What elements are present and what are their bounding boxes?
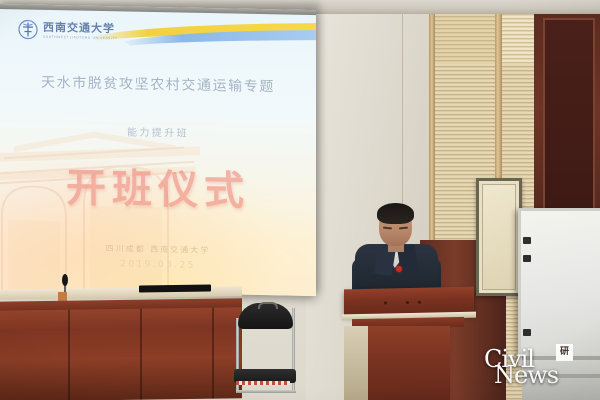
table-seam-2 bbox=[140, 309, 142, 400]
slatted-wall-upper bbox=[434, 10, 500, 70]
podium-mark-1 bbox=[384, 301, 387, 304]
podium-body bbox=[368, 326, 450, 400]
table-seam-3 bbox=[212, 308, 214, 399]
podium-mark-3 bbox=[418, 301, 421, 304]
whiteboard bbox=[518, 208, 600, 366]
whiteboard-stand-bar-2 bbox=[522, 374, 600, 378]
slide-title: 天水市脱贫攻坚农村交通运输专题 bbox=[0, 71, 316, 97]
chair-seat-trim bbox=[236, 381, 290, 385]
table-seam-1 bbox=[68, 310, 70, 400]
wall-framed-panel-inner bbox=[482, 184, 516, 290]
podium-mark-2 bbox=[406, 301, 409, 304]
table-nameplate bbox=[139, 284, 211, 292]
speaker-hair bbox=[377, 203, 414, 224]
whiteboard-clip-mid bbox=[523, 255, 531, 262]
whiteboard-stand bbox=[522, 352, 600, 400]
slide-logo-subtext: SOUTHWEST JIAOTONG UNIVERSITY bbox=[43, 34, 118, 39]
chair-rail-bottom bbox=[236, 390, 296, 393]
slide-logo-text: 西南交通大学 bbox=[43, 21, 118, 33]
slide-headline: 开班仪式 bbox=[0, 154, 316, 218]
presentation-slide: 西南交通大学 SOUTHWEST JIAOTONG UNIVERSITY 天水市… bbox=[0, 9, 316, 296]
whiteboard-stand-bar-1 bbox=[522, 356, 600, 360]
slide-university-logo: 西南交通大学 SOUTHWEST JIAOTONG UNIVERSITY bbox=[18, 19, 118, 41]
wall-framed-panel bbox=[476, 178, 522, 296]
university-emblem-icon bbox=[18, 19, 38, 39]
red-lapel-pin-icon bbox=[396, 266, 402, 272]
table-front bbox=[0, 307, 242, 400]
whiteboard-clip-top bbox=[523, 237, 531, 244]
whiteboard-clip-low bbox=[523, 329, 531, 336]
slide-swoosh-graphic bbox=[90, 17, 316, 57]
chair-handle bbox=[258, 302, 278, 309]
podium-side bbox=[344, 326, 370, 400]
projection-screen: 西南交通大学 SOUTHWEST JIAOTONG UNIVERSITY 天水市… bbox=[0, 4, 316, 296]
photo-scene: 西南交通大学 SOUTHWEST JIAOTONG UNIVERSITY 天水市… bbox=[0, 0, 600, 400]
